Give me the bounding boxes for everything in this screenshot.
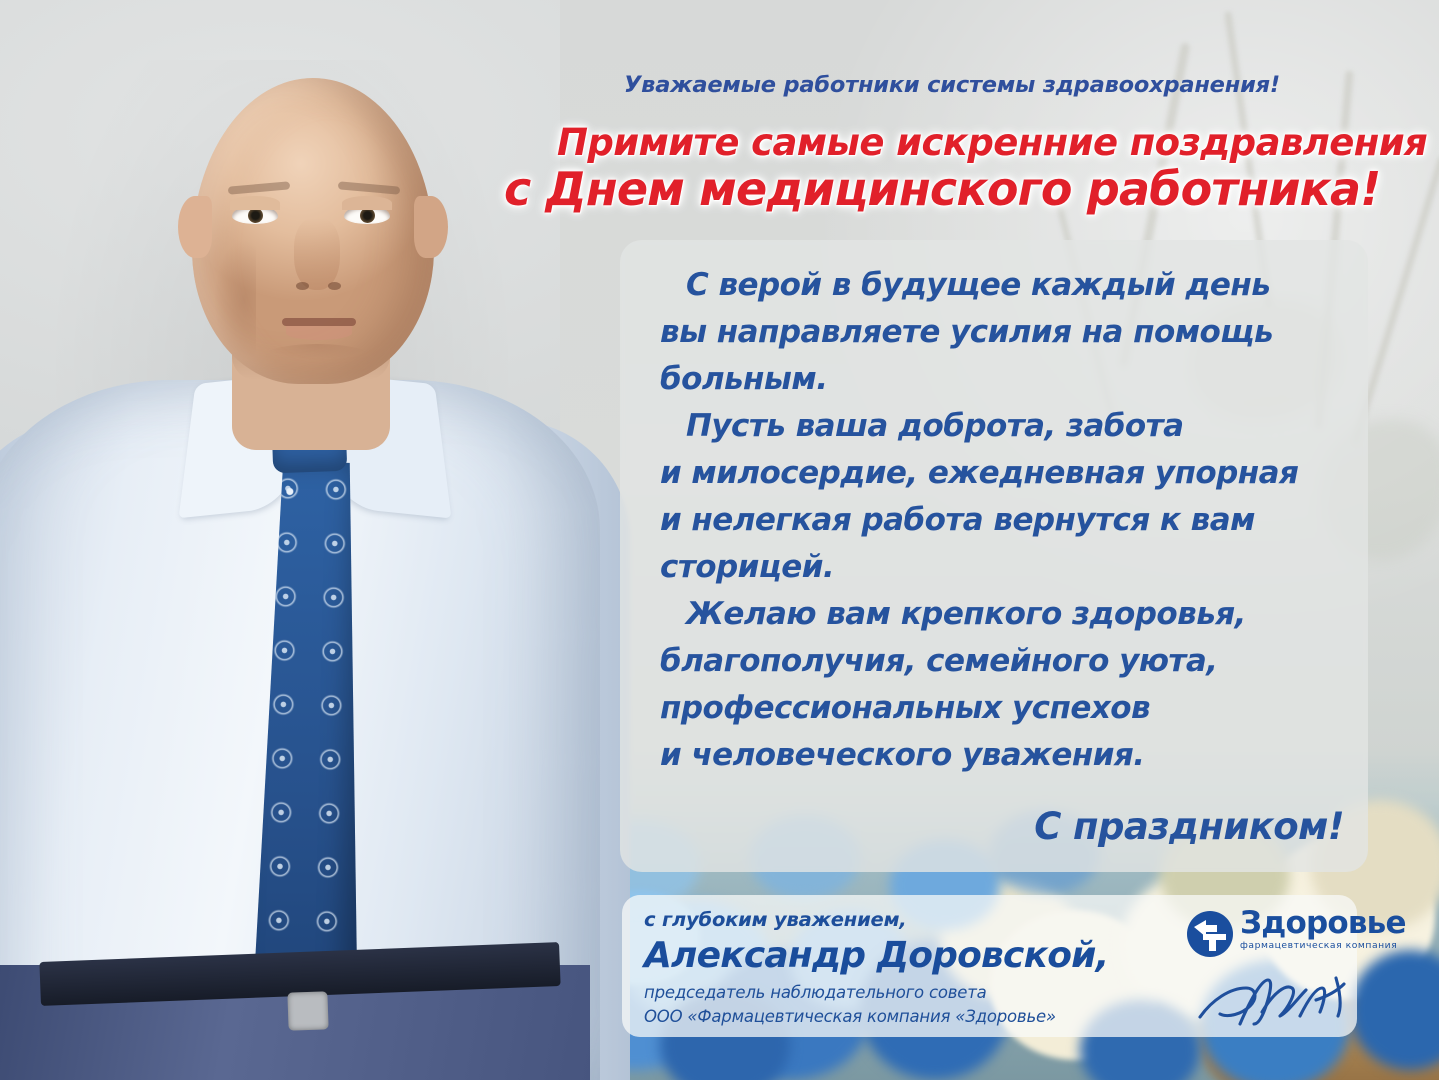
message-line: и нелегкая работа вернутся к вам xyxy=(660,497,1360,544)
logo-subtitle: фармацевтическая компания xyxy=(1240,940,1406,952)
message-line: больным. xyxy=(660,356,1360,403)
message-closing: С праздником! xyxy=(660,803,1360,850)
portrait-nose xyxy=(294,218,340,290)
company-logo: Здоровье фармацевтическая компания xyxy=(1186,908,1366,964)
portrait-mouth xyxy=(282,318,356,326)
signature-name: Александр Доровской, xyxy=(644,933,1204,979)
message-line: Пусть ваша доброта, забота xyxy=(660,403,1360,450)
message-line: С верой в будущее каждый день xyxy=(660,262,1360,309)
portrait-ear-right xyxy=(414,196,448,258)
message-line: сторицей. xyxy=(660,544,1360,591)
greeting-headline-line1: Примите самые искренние поздравления xyxy=(557,121,1427,164)
greeting-headline-line2: с Днем медицинского работника! xyxy=(504,162,1380,216)
greeting-kicker: Уважаемые работники системы здравоохране… xyxy=(592,72,1312,98)
signature-block: с глубоким уважением, Александр Доровско… xyxy=(644,908,1204,1027)
message-line: профессиональных успехов xyxy=(660,685,1360,732)
logo-wordmark: Здоровье xyxy=(1240,906,1406,940)
autograph-signature-icon xyxy=(1196,972,1366,1034)
message-line: и человеческого уважения. xyxy=(660,732,1360,779)
message-line: и милосердие, ежедневная упорная xyxy=(660,450,1360,497)
signature-role-line2: ООО «Фармацевтическая компания «Здоровье… xyxy=(644,1006,1204,1027)
message-line: благополучия, семейного уюта, xyxy=(660,638,1360,685)
message-body: С верой в будущее каждый деньвы направля… xyxy=(660,262,1360,850)
greeting-card-canvas: Уважаемые работники системы здравоохране… xyxy=(0,0,1439,1080)
portrait-belt-buckle xyxy=(287,991,328,1030)
message-line: вы направляете усилия на помощь xyxy=(660,309,1360,356)
signature-role-line1: председатель наблюдательного совета xyxy=(644,982,1204,1003)
zdorovye-circle-mark-icon xyxy=(1186,910,1234,958)
signature-salutation: с глубоким уважением, xyxy=(644,908,1204,932)
message-line: Желаю вам крепкого здоровья, xyxy=(660,591,1360,638)
logo-text-group: Здоровье фармацевтическая компания xyxy=(1240,906,1406,952)
